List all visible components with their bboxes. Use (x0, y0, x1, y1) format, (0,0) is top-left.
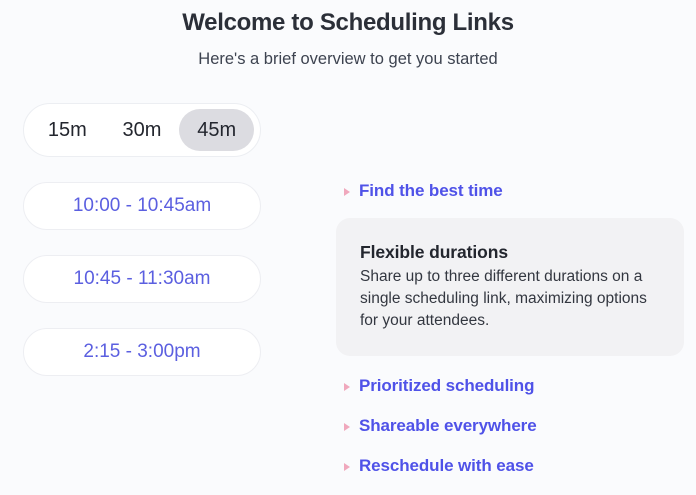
accordion-item-label: Shareable everywhere (359, 415, 537, 437)
arrow-right-icon (344, 463, 350, 471)
duration-segmented-control[interactable]: 15m 30m 45m (23, 103, 261, 157)
accordion-item-prioritized-scheduling[interactable]: Prioritized scheduling (336, 375, 686, 407)
page-title: Welcome to Scheduling Links (0, 8, 696, 38)
time-slot-list: 10:00 - 10:45am 10:45 - 11:30am 2:15 - 3… (23, 182, 261, 376)
feature-card-flexible-durations: Flexible durations Share up to three dif… (336, 218, 684, 356)
accordion-item-find-the-best-time[interactable]: Find the best time (336, 180, 686, 212)
accordion-collapsed-group: Prioritized scheduling Shareable everywh… (336, 375, 686, 487)
accordion-item-label: Prioritized scheduling (359, 375, 534, 397)
arrow-right-icon (344, 188, 350, 196)
time-slot-button[interactable]: 10:00 - 10:45am (23, 182, 261, 230)
duration-option-15m[interactable]: 15m (30, 109, 105, 151)
page-subtitle: Here's a brief overview to get you start… (0, 48, 696, 70)
time-slot-button[interactable]: 2:15 - 3:00pm (23, 328, 261, 376)
arrow-right-icon (344, 383, 350, 391)
scheduling-preview-panel: 15m 30m 45m 10:00 - 10:45am 10:45 - 11:3… (23, 103, 261, 376)
feature-card-body: Share up to three different durations on… (360, 266, 660, 332)
accordion-item-label: Find the best time (359, 180, 503, 202)
accordion-item-reschedule-with-ease[interactable]: Reschedule with ease (336, 455, 686, 487)
time-slot-button[interactable]: 10:45 - 11:30am (23, 255, 261, 303)
overview-body: 15m 30m 45m 10:00 - 10:45am 10:45 - 11:3… (0, 103, 696, 491)
arrow-right-icon (344, 423, 350, 431)
accordion-item-label: Reschedule with ease (359, 455, 534, 477)
feature-accordion: Find the best time Flexible durations Sh… (336, 103, 686, 495)
feature-card-title: Flexible durations (360, 240, 660, 264)
accordion-item-shareable-everywhere[interactable]: Shareable everywhere (336, 415, 686, 447)
onboarding-header: Welcome to Scheduling Links Here's a bri… (0, 0, 696, 70)
duration-option-30m[interactable]: 30m (105, 109, 180, 151)
duration-option-45m[interactable]: 45m (179, 109, 254, 151)
